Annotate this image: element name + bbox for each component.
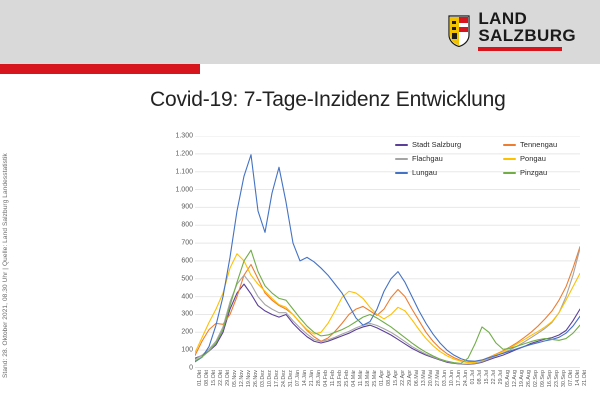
y-axis-tick-label: 200: [157, 329, 193, 336]
y-axis-tick-label: 1.100: [157, 168, 193, 175]
x-axis-tick-label: 18.Feb: [337, 370, 343, 387]
x-axis-tick-label: 31.Dez: [288, 370, 294, 387]
x-axis-tick-label: 14.Jän: [302, 370, 308, 386]
x-axis-tick-label: 08.Okt: [204, 370, 210, 386]
x-axis-tick-label: 20.Mai: [428, 370, 434, 386]
legend-label: Flachgau: [412, 154, 443, 163]
y-axis-tick-label: 500: [157, 275, 193, 282]
y-axis-tick-label: 700: [157, 240, 193, 247]
y-axis-tick-label: 300: [157, 311, 193, 318]
x-axis-tick-label: 28.Jän: [316, 370, 322, 386]
x-axis-tick-label: 05.Nov: [232, 370, 238, 387]
legend-color-swatch: [503, 172, 516, 174]
x-axis-tick-label: 07.Jän: [295, 370, 301, 386]
y-axis-tick-label: 1.200: [157, 150, 193, 157]
x-axis-tick-label: 07.Okt: [568, 370, 574, 386]
x-axis-tick-label: 12.Nov: [239, 370, 245, 387]
x-axis-tick-label: 15.Jul: [484, 370, 490, 384]
x-axis-tick-label: 22.Apr: [400, 370, 406, 386]
x-axis-tick-label: 08.Apr: [386, 370, 392, 386]
logo-line-salzburg: SALZBURG: [478, 27, 576, 44]
page-title: Covid-19: 7-Tage-Inzidenz Entwicklung: [150, 88, 580, 112]
x-axis-tick-label: 10.Jun: [449, 370, 455, 386]
x-axis-labels: 01.Okt08.Okt15.Okt22.Okt29.Okt05.Nov12.N…: [195, 370, 580, 410]
logo-line-land: LAND: [478, 10, 527, 27]
x-axis-tick-label: 11.Feb: [330, 370, 336, 386]
y-axis-tick-label: 900: [157, 204, 193, 211]
source-credit-text: Stand: 28. Oktober 2021, 08.30 Uhr | Que…: [2, 128, 9, 378]
x-axis-tick-label: 29.Jul: [498, 370, 504, 384]
x-axis-tick-label: 10.Dez: [267, 370, 273, 387]
x-axis-tick-label: 11.Mär: [358, 370, 364, 386]
x-axis-tick-label: 22.Okt: [218, 370, 224, 386]
y-axis-tick-label: 800: [157, 222, 193, 229]
y-axis-tick-label: 100: [157, 347, 193, 354]
x-axis-tick-label: 05.Aug: [505, 370, 511, 387]
x-axis-tick-label: 29.Okt: [225, 370, 231, 386]
x-axis-tick-label: 01.Jul: [470, 370, 476, 384]
x-axis-tick-label: 26.Aug: [526, 370, 532, 387]
legend-color-swatch: [395, 144, 408, 146]
legend-color-swatch: [395, 158, 408, 160]
logo-underline: [478, 47, 562, 51]
x-axis-tick-label: 04.Feb: [323, 370, 329, 387]
x-axis-tick-label: 02.Sep: [533, 370, 539, 387]
legend-item-lungau[interactable]: Lungau: [395, 168, 489, 177]
x-axis-tick-label: 08.Jul: [477, 370, 483, 384]
x-axis-tick-label: 27.Mai: [435, 370, 441, 386]
x-axis-tick-label: 25.Mär: [372, 370, 378, 387]
legend-item-tennengau[interactable]: Tennengau: [503, 140, 585, 149]
legend-item-pinzgau[interactable]: Pinzgau: [503, 168, 585, 177]
legend-item-pongau[interactable]: Pongau: [503, 154, 585, 163]
x-axis-tick-label: 13.Mai: [421, 370, 427, 386]
x-axis-tick-label: 01.Apr: [379, 370, 385, 386]
x-axis-tick-label: 16.Sep: [547, 370, 553, 387]
x-axis-tick-label: 14.Okt: [575, 370, 581, 386]
legend-item-stadt-salzburg[interactable]: Stadt Salzburg: [395, 140, 489, 149]
x-axis-tick-label: 22.Jul: [491, 370, 497, 384]
incidence-line-chart: 01002003004005006007008009001.0001.1001.…: [155, 126, 585, 394]
x-axis-tick-label: 17.Dez: [274, 370, 280, 387]
x-axis-tick-label: 23.Sep: [554, 370, 560, 387]
x-axis-tick-label: 04.Mär: [351, 370, 357, 387]
x-axis-tick-label: 03.Jun: [442, 370, 448, 386]
legend-label: Stadt Salzburg: [412, 140, 461, 149]
x-axis-tick-label: 15.Okt: [211, 370, 217, 386]
x-axis-tick-label: 15.Apr: [393, 370, 399, 386]
x-axis-tick-label: 17.Jun: [456, 370, 462, 386]
chart-legend: Stadt SalzburgTennengauFlachgauPongauLun…: [395, 140, 585, 177]
x-axis-tick-label: 19.Aug: [519, 370, 525, 387]
y-axis-labels: 01002003004005006007008009001.0001.1001.…: [155, 136, 193, 368]
y-axis-tick-label: 0: [157, 365, 193, 372]
salzburg-coat-of-arms-icon: [447, 15, 471, 47]
x-axis-tick-label: 18.Mär: [365, 370, 371, 387]
x-axis-tick-label: 03.Dez: [260, 370, 266, 387]
x-axis-tick-label: 25.Feb: [344, 370, 350, 387]
y-axis-tick-label: 1.000: [157, 186, 193, 193]
x-axis-tick-label: 01.Okt: [197, 370, 203, 386]
x-axis-tick-label: 24.Dez: [281, 370, 287, 387]
header-red-accent-bar: [0, 64, 200, 74]
y-axis-tick-label: 400: [157, 293, 193, 300]
x-axis-tick-label: 21.Jän: [309, 370, 315, 386]
x-axis-tick-label: 29.Apr: [407, 370, 413, 386]
x-axis-tick-label: 12.Aug: [512, 370, 518, 387]
land-salzburg-logo: LAND SALZBURG: [447, 10, 576, 51]
legend-color-swatch: [395, 172, 408, 174]
x-axis-tick-label: 21.Okt: [582, 370, 588, 386]
legend-color-swatch: [503, 158, 516, 160]
series-line: [195, 254, 580, 363]
logo-wordmark: LAND SALZBURG: [478, 10, 576, 51]
y-axis-tick-label: 1.300: [157, 133, 193, 140]
legend-color-swatch: [503, 144, 516, 146]
legend-label: Pongau: [520, 154, 546, 163]
y-axis-tick-label: 600: [157, 257, 193, 264]
legend-item-flachgau[interactable]: Flachgau: [395, 154, 489, 163]
x-axis-tick-label: 09.Sep: [540, 370, 546, 387]
x-axis-tick-label: 24.Jun: [463, 370, 469, 386]
legend-label: Tennengau: [520, 140, 557, 149]
legend-label: Lungau: [412, 168, 437, 177]
x-axis-tick-label: 26.Nov: [253, 370, 259, 387]
x-axis-tick-label: 06.Mai: [414, 370, 420, 386]
x-axis-tick-label: 19.Nov: [246, 370, 252, 387]
x-axis-tick-label: 30.Sep: [561, 370, 567, 387]
legend-label: Pinzgau: [520, 168, 547, 177]
